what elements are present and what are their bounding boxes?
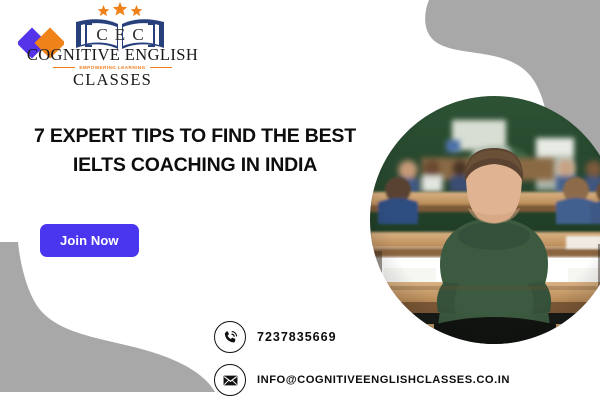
brand-name-line1: COGNITIVE ENGLISH	[10, 46, 215, 64]
book-letter-e: E	[115, 25, 125, 44]
page-title: 7 EXPERT TIPS TO FIND THE BEST IELTS COA…	[6, 122, 384, 180]
contact-email[interactable]: INFO@COGNITIVEENGLISHCLASSES.CO.IN	[214, 364, 510, 396]
three-stars-icon	[98, 2, 143, 16]
decorative-shape-bottom-left	[0, 242, 215, 392]
banner-canvas: C E C COGNITIVE ENGLISH EMPOWERING LEARN…	[0, 0, 600, 400]
brand-wordmark: COGNITIVE ENGLISH EMPOWERING LEARNING CL…	[10, 46, 215, 89]
classroom-photo	[370, 96, 600, 344]
phone-icon	[214, 321, 246, 353]
tagline-dash-right	[150, 67, 172, 69]
phone-number: 7237835669	[257, 330, 337, 344]
contact-phone[interactable]: 7237835669	[214, 321, 337, 353]
email-address: INFO@COGNITIVEENGLISHCLASSES.CO.IN	[257, 374, 510, 386]
brand-name-line2: CLASSES	[10, 70, 215, 89]
book-letter-c2: C	[132, 25, 143, 44]
envelope-icon	[214, 364, 246, 396]
tagline-dash-left	[53, 67, 75, 69]
join-now-button[interactable]: Join Now	[40, 224, 139, 257]
brand-logo[interactable]: C E C COGNITIVE ENGLISH EMPOWERING LEARN…	[10, 2, 215, 94]
book-letter-c1: C	[96, 25, 107, 44]
